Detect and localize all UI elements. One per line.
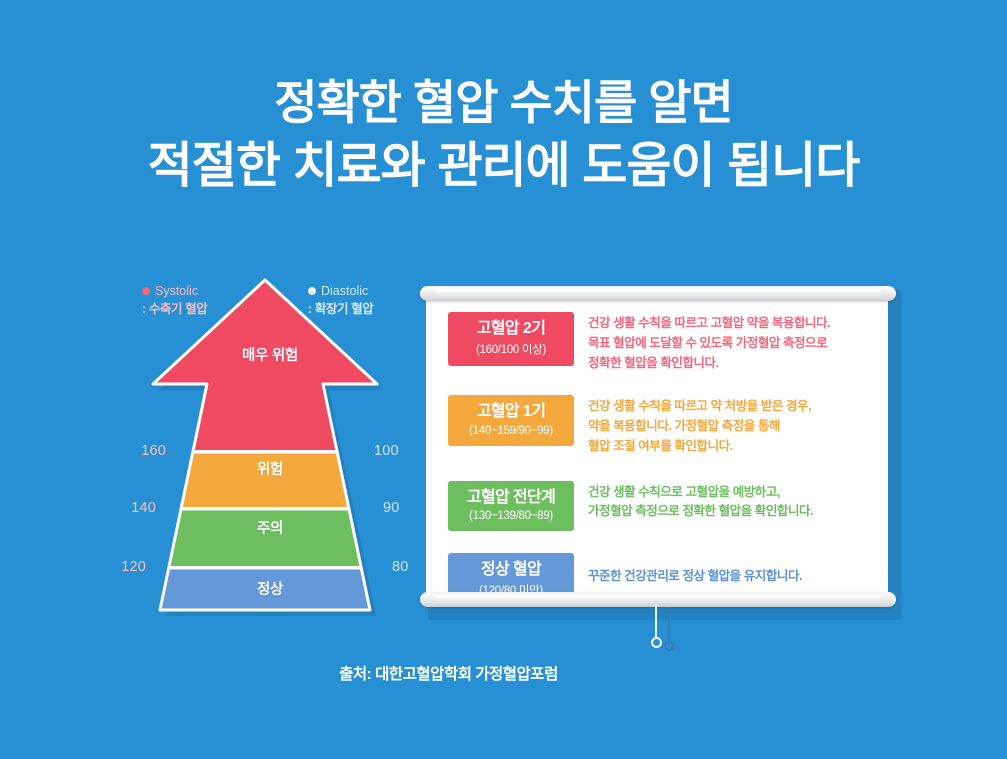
recommendation-text: 건강 생활 수칙을 따르고 고혈압 약을 복용합니다. 목표 혈압에 도달할 수… <box>574 312 870 373</box>
diastolic-tick-100: 100 <box>374 443 422 459</box>
screen-pull-cord[interactable] <box>653 605 677 659</box>
badge-range: (130~139/80~89) <box>450 510 572 522</box>
legend-systolic-kor: : 수축기 혈압 <box>142 300 207 318</box>
badge-range: (160/100 이상) <box>450 341 572 357</box>
recommendation-line: 건강 생활 수칙으로 고혈압을 예방하고, <box>588 483 870 503</box>
blood-pressure-arrow-chart: 매우 위험 위험 주의 정상 160 140 120 100 90 80 Sys… <box>120 280 420 630</box>
headline-line-2: 적절한 치료와 관리에 도움이 됩니다 <box>0 134 1007 199</box>
page-title: 정확한 혈압 수치를 알면 적절한 치료와 관리에 도움이 됩니다 <box>0 72 1007 199</box>
segment-divider-3 <box>120 566 420 570</box>
recommendation-line: 목표 혈압에 도달할 수 있도록 가정혈압 측정으로 <box>588 334 870 354</box>
legend-dot-systolic-icon <box>142 287 150 295</box>
legend-systolic-eng: Systolic <box>155 282 198 300</box>
stage-badge-hypertension-1: 고혈압 1기 (140~159/90~99) <box>448 395 574 445</box>
projector-screen-panel: 고혈압 2기 (160/100 이상) 건강 생활 수칙을 따르고 고혈압 약을… <box>420 280 900 620</box>
roller-cap-right <box>880 593 893 606</box>
cord-ring-shadow-icon <box>664 641 674 651</box>
table-row: 고혈압 전단계 (130~139/80~89) 건강 생활 수칙으로 고혈압을 … <box>448 469 870 541</box>
recommendation-line: 정확한 혈압을 확인합니다. <box>588 354 870 374</box>
badge-range: (140~159/90~99) <box>450 425 572 437</box>
recommendation-line: 건강 생활 수칙을 따르고 약 처방을 받은 경우, <box>588 397 870 417</box>
badge-title: 고혈압 2기 <box>450 320 572 338</box>
recommendation-table: 고혈압 2기 (160/100 이상) 건강 생활 수칙을 따르고 고혈압 약을… <box>426 296 888 596</box>
badge-title: 고혈압 1기 <box>450 403 572 421</box>
recommendation-text: 건강 생활 수칙으로 고혈압을 예방하고, 가정혈압 측정으로 정확한 혈압을 … <box>574 481 870 523</box>
screen-roller-top <box>420 286 896 301</box>
roller-cap-right <box>880 287 893 300</box>
recommendation-text: 꾸준한 건강관리로 정상 혈압을 유지합니다. <box>574 553 870 587</box>
badge-title: 정상 혈압 <box>450 561 572 579</box>
legend-diastolic: Diastolic : 확장기 혈압 <box>308 282 373 318</box>
legend-systolic: Systolic : 수축기 혈압 <box>142 282 207 318</box>
roller-cap-left <box>423 287 436 300</box>
systolic-tick-140: 140 <box>108 500 156 516</box>
roller-cap-left <box>423 593 436 606</box>
recommendation-line: 꾸준한 건강관리로 정상 혈압을 유지합니다. <box>588 567 870 587</box>
recommendation-text: 건강 생활 수칙을 따르고 약 처방을 받은 경우, 약을 복용합니다. 가정혈… <box>574 395 870 456</box>
badge-title: 고혈압 전단계 <box>450 489 572 507</box>
recommendation-line: 건강 생활 수칙을 따르고 고혈압 약을 복용합니다. <box>588 314 870 334</box>
recommendation-line: 가정혈압 측정으로 정확한 혈압을 확인합니다. <box>588 502 870 522</box>
headline-line-1: 정확한 혈압 수치를 알면 <box>0 72 1007 134</box>
stage-badge-hypertension-2: 고혈압 2기 (160/100 이상) <box>448 312 574 366</box>
segment-divider-2 <box>120 507 420 511</box>
recommendation-line: 약을 복용합니다. 가정혈압 측정을 통해 <box>588 417 870 437</box>
cord-ring-icon <box>651 637 662 648</box>
systolic-tick-160: 160 <box>118 443 166 459</box>
cord-string <box>655 605 657 639</box>
table-row: 고혈압 1기 (140~159/90~99) 건강 생활 수칙을 따르고 약 처… <box>448 383 870 468</box>
infographic-canvas: 정확한 혈압 수치를 알면 적절한 치료와 관리에 도움이 됩니다 <box>0 0 1007 759</box>
segment-high <box>120 452 420 509</box>
table-row: 고혈압 2기 (160/100 이상) 건강 생활 수칙을 따르고 고혈압 약을… <box>448 310 870 383</box>
legend-dot-diastolic-icon <box>308 287 316 295</box>
stage-badge-prehypertension: 고혈압 전단계 (130~139/80~89) <box>448 481 574 531</box>
legend-diastolic-kor: : 확장기 혈압 <box>308 300 373 318</box>
source-attribution: 출처: 대한고혈압학회 가정혈압포럼 <box>0 662 1007 684</box>
systolic-tick-120: 120 <box>98 559 146 575</box>
legend-diastolic-eng: Diastolic <box>321 282 368 300</box>
segment-caution <box>120 509 420 568</box>
recommendation-line: 혈압 조절 여부를 확인합니다. <box>588 437 870 457</box>
cord-string-shadow <box>668 607 670 643</box>
